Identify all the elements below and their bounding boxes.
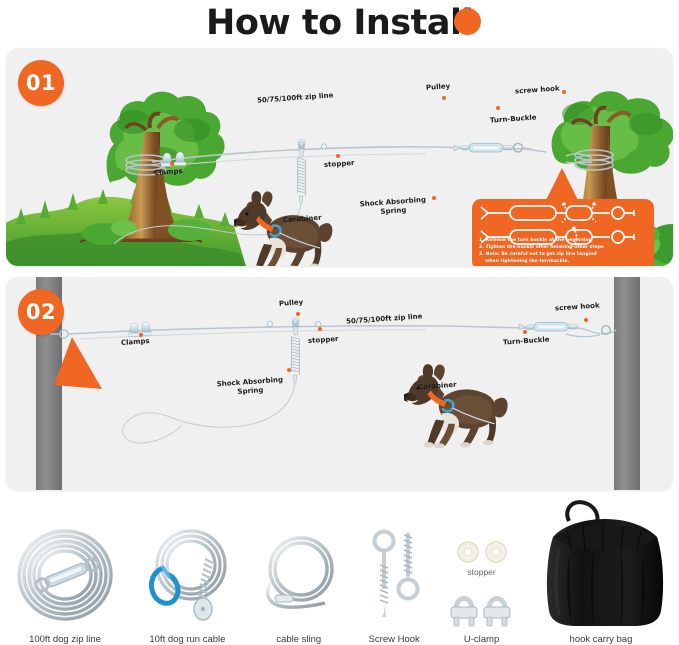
product-caption-screw-hook: Screw Hook bbox=[358, 634, 430, 645]
u-clamp-icon bbox=[446, 585, 518, 629]
turnbuckle-assembly-02 bbox=[519, 323, 578, 332]
product-screw-hook: Screw Hook bbox=[358, 517, 430, 645]
title-accent-dot bbox=[454, 8, 481, 35]
dog-illustration-02 bbox=[404, 363, 514, 451]
dog-illustration-01 bbox=[234, 190, 338, 266]
label-dot-stopper-01 bbox=[336, 154, 340, 158]
step-badge-02: 02 bbox=[18, 289, 64, 335]
run-cable-icon bbox=[135, 517, 239, 629]
product-caption-carry-bag: hook carry bag bbox=[533, 634, 669, 645]
infographic-page: How to Install bbox=[0, 0, 679, 645]
label-pulley-02: Pulley bbox=[279, 298, 304, 308]
product-image-screw-hook bbox=[358, 517, 430, 629]
install-step-panel-02: it also can screw into the wall bbox=[6, 277, 673, 490]
turnbuckle-step-3-cont: when tightening the turnbuckle. bbox=[479, 258, 647, 265]
label-dot-spring-02 bbox=[287, 368, 291, 372]
label-pulley-01: Pulley bbox=[426, 82, 451, 92]
product-uclamp-stopper: stopper bbox=[446, 539, 518, 645]
label-spring-line2-01: Spring bbox=[380, 206, 406, 216]
product-carry-bag: hook carry bag bbox=[533, 495, 669, 645]
turnbuckle-step-1: 1. Release the turn buckle at the beginn… bbox=[479, 237, 647, 244]
label-dot-clamps-01 bbox=[170, 162, 174, 166]
label-dot-turn-buckle-02 bbox=[523, 330, 527, 334]
label-dot-stopper-02 bbox=[318, 327, 322, 331]
product-image-uclamp bbox=[446, 585, 518, 629]
label-dot-screw-hook-02 bbox=[584, 318, 588, 322]
product-image-run-cable bbox=[135, 517, 239, 629]
page-title-text: How to Install bbox=[206, 3, 473, 43]
shock-absorbing-spring-02 bbox=[292, 336, 300, 375]
turnbuckle-instruction-callout: 1. Release the turn buckle at the beginn… bbox=[472, 199, 654, 266]
product-10ft-run-cable: 10ft dog run cable bbox=[135, 517, 239, 645]
product-stopper-group: stopper bbox=[451, 539, 513, 577]
product-cable-sling: cable sling bbox=[255, 517, 343, 645]
label-dot-pulley-02 bbox=[296, 312, 300, 316]
product-image-cable-sling bbox=[255, 517, 343, 629]
product-caption-uclamp: U-clamp bbox=[464, 634, 499, 645]
label-dot-clamps-02 bbox=[139, 333, 143, 337]
screw-hook-icon bbox=[358, 517, 430, 629]
product-contents-row: 100ft dog zip line bbox=[0, 496, 679, 645]
product-sub-caption-stopper: stopper bbox=[467, 567, 495, 577]
label-dot-turn-buckle-01 bbox=[496, 106, 500, 110]
label-dot-spring-01 bbox=[432, 196, 436, 200]
install-step-panel-01: 01 Clamps 50/75/100ft zip line stopper P… bbox=[6, 48, 673, 266]
turnbuckle-steps-list: 1. Release the turn buckle at the beginn… bbox=[479, 237, 647, 265]
product-100ft-zip-line: 100ft dog zip line bbox=[10, 517, 120, 645]
turnbuckle-step-2: 2. Tighten the buckle after finishing ot… bbox=[479, 244, 647, 251]
page-title: How to Install bbox=[206, 6, 473, 41]
turnbuckle-assembly-01 bbox=[454, 143, 532, 152]
label-dot-screw-hook-01 bbox=[562, 90, 566, 94]
product-caption-cable-sling: cable sling bbox=[255, 634, 343, 645]
coiled-cable-icon bbox=[10, 517, 120, 629]
label-spring-line2-02: Spring bbox=[237, 386, 263, 396]
carry-bag-icon bbox=[533, 495, 669, 629]
product-image-zip-line bbox=[10, 517, 120, 629]
step-badge-01: 01 bbox=[18, 60, 64, 106]
turnbuckle-step-3: 3. Note: Be careful not to get zip line … bbox=[479, 251, 647, 258]
label-dot-pulley-01 bbox=[442, 96, 446, 100]
callout-pointer-01 bbox=[546, 168, 578, 200]
wall-post-right bbox=[614, 277, 640, 490]
page-title-bar: How to Install bbox=[0, 0, 679, 46]
product-caption-zip-line: 100ft dog zip line bbox=[10, 634, 120, 645]
stopper-washers-icon bbox=[451, 539, 513, 565]
product-image-carry-bag bbox=[533, 495, 669, 629]
product-caption-run-cable: 10ft dog run cable bbox=[135, 634, 239, 645]
cable-sling-icon bbox=[255, 517, 343, 629]
